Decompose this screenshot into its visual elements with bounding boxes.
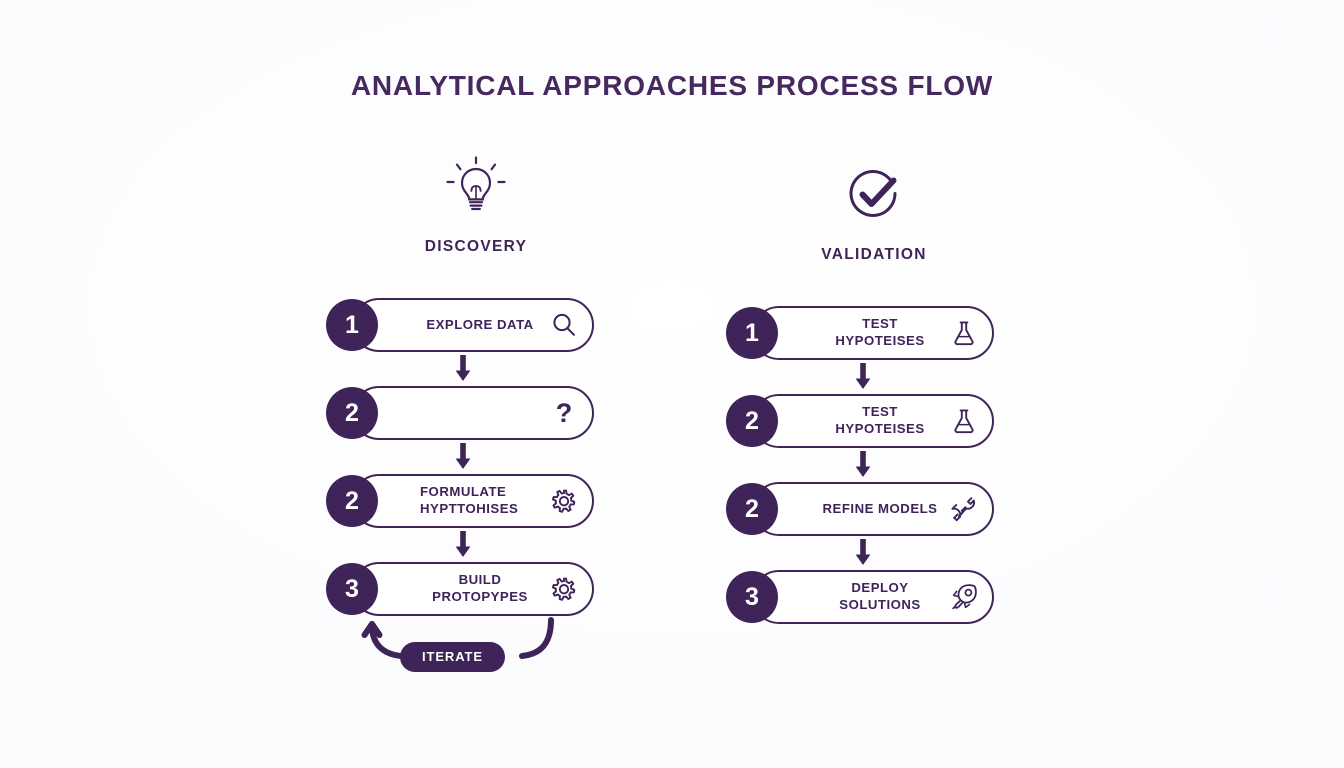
iterate-label: ITERATE <box>400 642 505 672</box>
column-header-validation: VALIDATION <box>664 158 1084 264</box>
gear-icon <box>548 485 580 517</box>
step-item[interactable]: FORMULATE HYPTTOHISES 2 <box>326 474 594 528</box>
gear-icon <box>548 573 580 605</box>
column-label: VALIDATION <box>664 246 1084 264</box>
step-pill[interactable]: TEST HYPOTEISES <box>752 394 994 448</box>
check-circle-icon <box>664 158 1084 230</box>
step-item[interactable]: BUILD PROTOPYPES 3 <box>326 562 594 616</box>
step-number-badge: 2 <box>326 387 378 439</box>
connector-arrow <box>326 528 594 562</box>
column-discovery: DISCOVERY EXPLORE DATA 1 <box>266 0 686 768</box>
question-mark-icon: ? <box>548 397 580 429</box>
step-pill[interactable]: EXPLORE DATA <box>352 298 594 352</box>
step-item[interactable]: DEPLOY SOLUTIONS 3 <box>726 570 994 624</box>
step-number-badge: 3 <box>326 563 378 615</box>
connector-arrow <box>726 360 994 394</box>
step-item[interactable]: EXPLORE DATA 1 <box>326 298 594 352</box>
step-item[interactable]: REFINE MODELS 2 <box>726 482 994 536</box>
step-label: TEST HYPOTEISES <box>820 404 940 438</box>
column-label: DISCOVERY <box>266 238 686 256</box>
step-label: TEST HYPOTEISES <box>820 316 940 350</box>
iterate-loop: ITERATE <box>326 616 594 672</box>
step-pill[interactable]: TEST HYPOTEISES <box>752 306 994 360</box>
step-number-badge: 2 <box>326 475 378 527</box>
step-label: EXPLORE DATA <box>420 317 540 334</box>
step-label: REFINE MODELS <box>820 501 940 518</box>
step-number-badge: 2 <box>726 395 778 447</box>
step-label: BUILD PROTOPYPES <box>420 572 540 606</box>
column-header-discovery: DISCOVERY <box>266 150 686 256</box>
step-item[interactable]: ? 2 <box>326 386 594 440</box>
step-number-badge: 1 <box>726 307 778 359</box>
step-list-validation: TEST HYPOTEISES 1 TEST HYPOTEISES <box>726 306 1146 624</box>
magnifier-icon <box>548 309 580 341</box>
connector-arrow <box>726 448 994 482</box>
step-pill[interactable]: BUILD PROTOPYPES <box>352 562 594 616</box>
connector-arrow <box>326 352 594 386</box>
step-label: DEPLOY SOLUTIONS <box>820 580 940 614</box>
connector-arrow <box>326 440 594 474</box>
step-item[interactable]: TEST HYPOTEISES 1 <box>726 306 994 360</box>
step-pill[interactable]: REFINE MODELS <box>752 482 994 536</box>
step-item[interactable]: TEST HYPOTEISES 2 <box>726 394 994 448</box>
wrench-icon <box>948 493 980 525</box>
lightbulb-icon <box>266 150 686 222</box>
column-validation: VALIDATION TEST HYPOTEISES 1 <box>664 0 1084 768</box>
step-label: FORMULATE HYPTTOHISES <box>420 484 540 518</box>
step-number-badge: 3 <box>726 571 778 623</box>
connector-arrow <box>726 536 994 570</box>
flask-icon <box>948 405 980 437</box>
step-number-badge: 1 <box>326 299 378 351</box>
step-pill[interactable]: FORMULATE HYPTTOHISES <box>352 474 594 528</box>
rocket-icon <box>948 581 980 613</box>
svg-text:?: ? <box>556 399 573 427</box>
step-pill[interactable]: ? <box>352 386 594 440</box>
flask-icon <box>948 317 980 349</box>
step-number-badge: 2 <box>726 483 778 535</box>
step-pill[interactable]: DEPLOY SOLUTIONS <box>752 570 994 624</box>
